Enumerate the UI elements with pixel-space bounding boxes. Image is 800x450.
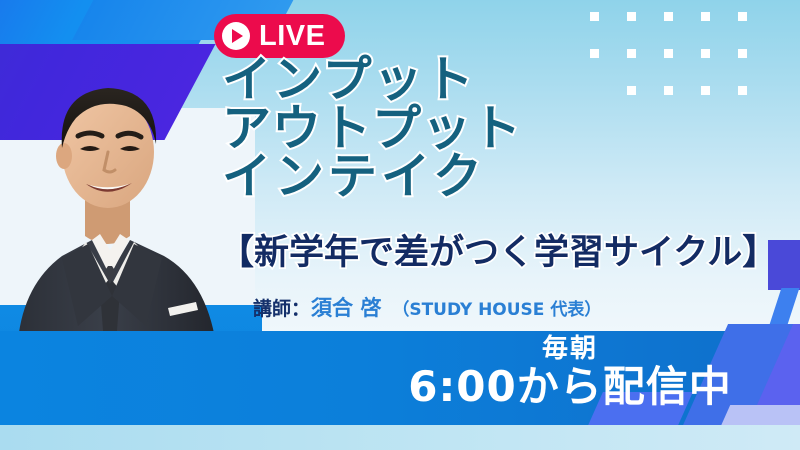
schedule-text: 毎朝 6:00から配信中 xyxy=(400,336,740,410)
lecturer-name: 須合 啓 xyxy=(311,298,381,319)
schedule-time: 6:00から配信中 xyxy=(400,364,740,410)
headline-line-2: アウトプット xyxy=(222,105,782,154)
headline: インプット アウトプット インテイク xyxy=(222,56,782,202)
headline-line-3: インテイク xyxy=(222,153,782,202)
dot xyxy=(738,12,747,21)
schedule-frequency: 毎朝 xyxy=(400,336,740,363)
bottom-right-parallelogram-b xyxy=(737,324,800,450)
lecturer-organization: （STUDY HOUSE 代表） xyxy=(392,302,601,319)
bottom-right-parallelogram-c xyxy=(710,405,800,450)
lecturer-line: 講師： 須合 啓 （STUDY HOUSE 代表） xyxy=(253,298,601,319)
subtitle: 【新学年で差がつく学習サイクル】 xyxy=(219,236,777,271)
dot xyxy=(590,12,599,21)
promo-banner: LIVE インプット アウトプット インテイク 【新学年で差がつく学習サイクル】… xyxy=(0,0,800,450)
play-icon xyxy=(222,22,250,50)
dot xyxy=(701,12,710,21)
top-left-blue-band xyxy=(0,0,243,48)
dot xyxy=(627,12,636,21)
accent-dot xyxy=(373,399,380,406)
live-badge-label: LIVE xyxy=(259,22,325,51)
headline-line-1: インプット xyxy=(222,56,782,105)
right-diagonal-stripe xyxy=(763,288,800,346)
lecturer-label: 講師： xyxy=(253,300,310,319)
dot xyxy=(664,12,673,21)
dot xyxy=(267,371,277,381)
